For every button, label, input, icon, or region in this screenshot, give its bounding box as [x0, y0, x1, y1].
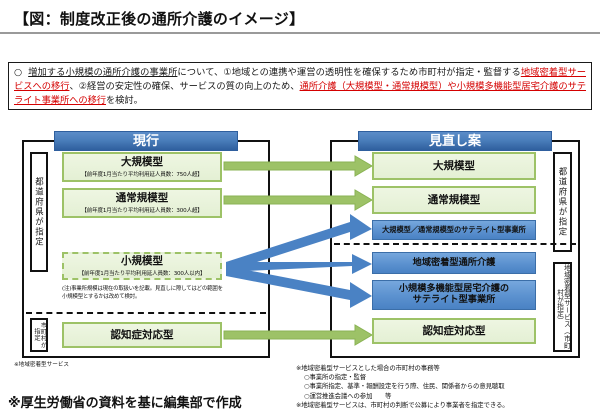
box-revised-dementia-title: 認知症対応型: [423, 325, 486, 337]
box-revised-dementia[interactable]: 認知症対応型: [372, 318, 536, 344]
bottom-note-line-1: ※地域密着型サービスとした場合の市町村の事務等: [296, 364, 596, 373]
box-revised-shoukibo-title-line2: サテライト型事業所: [413, 295, 496, 306]
footnote-current-panel: ※地域密着型サービス: [14, 360, 214, 368]
page-title: 【図：制度改正後の通所介護のイメージ】: [14, 8, 586, 29]
box-revised-normal-title: 通常規模型: [428, 194, 481, 206]
box-revised-large-title: 大規模型: [433, 160, 475, 172]
summary-callout-box: ○ 増加する小規模の通所介護の事業所について、①地域との連携や運営の透明性を確保…: [8, 62, 592, 110]
side-label-current-prefecture: 都道府県が指定: [30, 152, 48, 272]
box-current-small[interactable]: 小規模型 【前年度1月当たり平均利用延人員数：300人以内】: [62, 252, 222, 280]
side-label-revised-prefecture: 都道府県が指定: [553, 152, 572, 252]
panel-header-revised: 見直し案: [358, 131, 552, 151]
box-current-small-title: 小規模型: [121, 255, 163, 267]
box-current-small-sub: 【前年度1月当たり平均利用延人員数：300人以内】: [79, 269, 206, 277]
side-label-current-municipality: 市町村が指定: [30, 318, 48, 352]
box-revised-large[interactable]: 大規模型: [372, 152, 536, 180]
summary-text: ○ 増加する小規模の通所介護の事業所について、①地域との連携や運営の透明性を確保…: [14, 66, 586, 109]
bottom-note-line-3: ○事業所指定、基準・報酬設定を行う際、住民、関係者からの意見聴取: [296, 382, 596, 391]
footer-credit: ※厚生労働省の資料を基に編集部で作成: [8, 392, 408, 411]
divider-revised-panel: [334, 243, 576, 245]
side-label-revised-chiikimicchaku: 地域密着型サービス（市町村が指定）: [553, 262, 572, 352]
box-current-dementia[interactable]: 認知症対応型: [62, 322, 222, 348]
box-current-normal-sub: 【前年度1月当たり平均利用延人員数：300人超】: [81, 206, 202, 214]
title-divider: [0, 32, 600, 34]
note-current-panel: (注)事業所規模は現在の取扱いを記載。見直しに際してはどの範囲を小規模型とするか…: [62, 285, 228, 301]
box-current-large-title: 大規模型: [121, 156, 163, 168]
box-current-dementia-title: 認知症対応型: [111, 329, 174, 341]
summary-segment-2: について、①地域との連携や運営の透明性を確保するため市町村が指定・監督する: [177, 67, 520, 78]
divider-current-panel: [26, 312, 266, 314]
box-revised-shoukibo-satellite[interactable]: 小規模多機能型居宅介護の サテライト型事業所: [372, 280, 536, 310]
box-revised-chiikimicchaku[interactable]: 地域密着型通所介護: [372, 252, 536, 274]
box-current-large[interactable]: 大規模型 【前年度1月当たり平均利用延人員数：750人超】: [62, 152, 222, 182]
box-current-normal-title: 通常規模型: [116, 192, 169, 204]
box-revised-satellite-title: 大規模型／通常規模型のサテライト型事業所: [382, 226, 526, 234]
summary-segment-1: 増加する小規模の通所介護の事業所: [28, 67, 177, 78]
box-revised-normal[interactable]: 通常規模型: [372, 186, 536, 214]
panel-header-current: 現行: [54, 131, 238, 151]
box-current-large-sub: 【前年度1月当たり平均利用延人員数：750人超】: [81, 170, 202, 178]
box-current-normal[interactable]: 通常規模型 【前年度1月当たり平均利用延人員数：300人超】: [62, 188, 222, 218]
summary-segment-4: 、②経営の安定性の確保、サービスの質の向上のため、: [69, 81, 299, 92]
box-revised-satellite[interactable]: 大規模型／通常規模型のサテライト型事業所: [372, 220, 536, 240]
summary-bullet: ○: [14, 67, 22, 78]
summary-segment-6: を検討。: [106, 95, 143, 106]
box-revised-chiikimicchaku-title: 地域密着型通所介護: [413, 258, 496, 269]
